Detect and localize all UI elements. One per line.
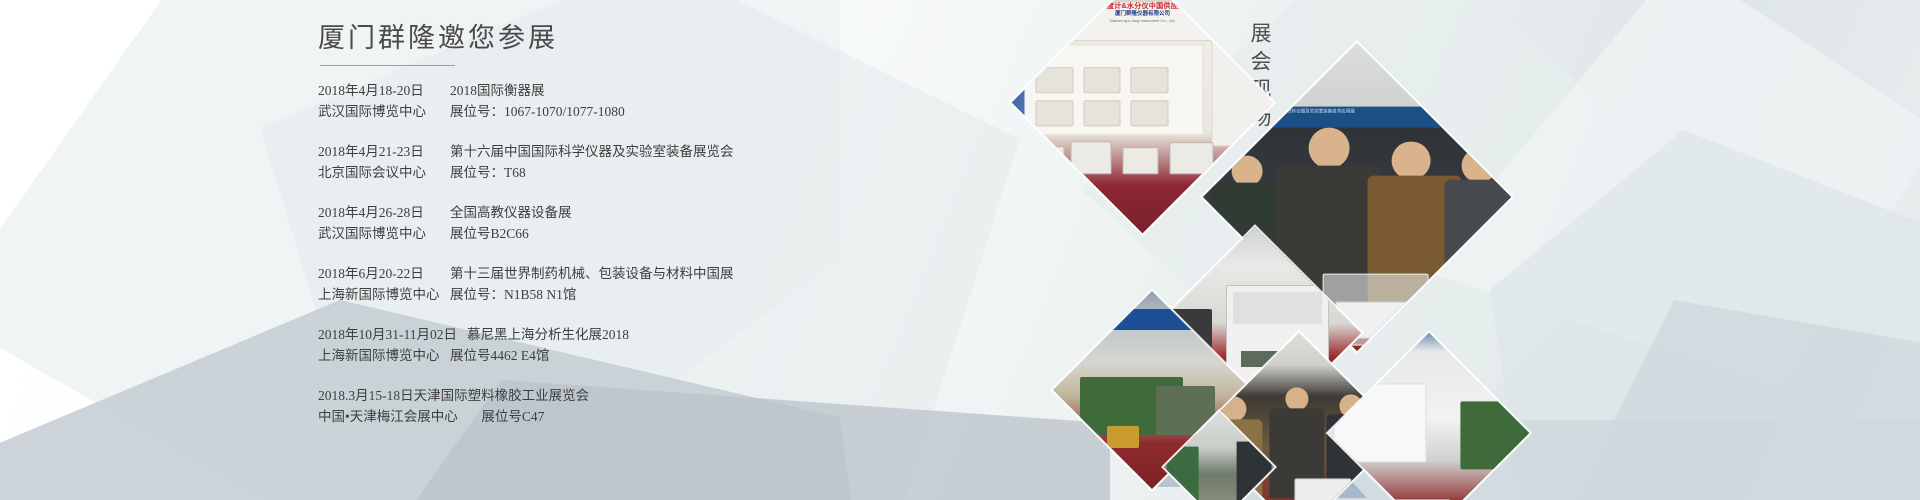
exhibition-banner: 厦门群隆邀您参展 2018年4月18-20日 2018国际衡器展 武汉国际博览中… [0,0,1920,500]
booth-banner-line3: Xiamen qun long Instrument Co., Ltd. [1012,17,1272,22]
booth-banner: 密度计&水分仪中国供应商 厦门群隆仪器有限公司 Xiamen qun long … [1012,0,1272,40]
entry-booth: 展位号：T68 [440,162,526,183]
entry-name: 第十三届世界制药机械、包装设备与材料中国展 [440,263,734,284]
entry-name: 全国高教仪器设备展 [440,202,572,223]
schedule-entry: 2018年4月21-23日 第十六届中国国际科学仪器及实验室装备展览会 北京国际… [318,141,938,183]
entry-venue: 上海新国际博览中心 [318,284,440,305]
entry-venue-line: 上海新国际博览中心 展位号：N1B58 N1馆 [318,284,938,305]
entry-title-line: 2018年4月18-20日 2018国际衡器展 [318,80,938,101]
background-polygon-h [1560,300,1920,500]
machine-part [1107,426,1138,448]
instrument [1169,142,1214,174]
booth-banner-line1: 密度计&水分仪中国供应商 [1012,1,1272,10]
entry-venue-line: 中国•天津梅江会展中心 展位号C47 [318,406,938,427]
entry-venue: 武汉国际博览中心 [318,223,440,244]
schedule-entry: 2018年4月18-20日 2018国际衡器展 武汉国际博览中心 展位号：106… [318,80,938,122]
instrument [1028,145,1064,173]
schedule-entry: 2018年6月20-22日 第十三届世界制药机械、包装设备与材料中国展 上海新国… [318,263,938,305]
entry-booth: 展位号4462 E4馆 [440,345,549,366]
entry-venue-line: 上海新国际博览中心 展位号4462 E4馆 [318,345,938,366]
neighbour-booth [1012,79,1024,168]
booth-logo: SmartT [1338,356,1359,364]
title-underline [320,65,455,66]
entry-venue: 北京国际会议中心 [318,162,440,183]
product-thumb [1036,67,1074,93]
analyser-lid [1233,292,1322,325]
booth-side-rack [1212,37,1274,146]
entry-title-line: 2018年4月21-23日 第十六届中国国际科学仪器及实验室装备展览会 [318,141,938,162]
instrument [1294,478,1351,500]
entry-name: 慕尼黑上海分析生化展2018 [457,324,629,345]
page-title: 厦门群隆邀您参展 [318,22,938,56]
entry-booth: 展位号：1067-1070/1077-1080 [440,101,625,122]
entry-date: 2018年6月20-22日 [318,263,440,284]
product-thumb [1083,67,1121,93]
entry-date: 2018年4月18-20日 [318,80,440,101]
entry-booth: 展位号：N1B58 N1馆 [440,284,576,305]
entry-title-line: 2018年6月20-22日 第十三届世界制药机械、包装设备与材料中国展 [318,263,938,284]
exhibition-schedule: 厦门群隆邀您参展 2018年4月18-20日 2018国际衡器展 武汉国际博览中… [318,22,938,446]
instrument [1071,140,1111,173]
entry-venue: 武汉国际博览中心 [318,101,440,122]
entry-venue: 中国•天津梅江会展中心 [318,406,468,427]
schedule-entry: 2018年10月31-11月02日 慕尼黑上海分析生化展2018 上海新国际博览… [318,324,938,366]
visitor-head [1231,155,1262,186]
schedule-entry: 2018年4月26-28日 全国高教仪器设备展 武汉国际博览中心 展位号B2C6… [318,202,938,244]
booth-banner-line2: 厦门群隆仪器有限公司 [1012,10,1272,17]
entry-booth: 展位号B2C66 [440,223,529,244]
entry-date: 2018年10月31-11月02日 [318,324,457,345]
entry-name: 第十六届中国国际科学仪器及实验室装备展览会 [440,141,734,162]
product-thumb [1131,100,1169,126]
photo-right-booth-content: SmartT [1329,333,1530,500]
entry-date: 2018年4月26-28日 [318,202,440,223]
visitor-head [1462,148,1497,183]
visitor-head [1392,141,1430,179]
product-thumb [1131,67,1169,93]
entry-venue-line: 武汉国际博览中心 展位号B2C66 [318,223,938,244]
machine-unit [1461,401,1529,469]
photo-right-booth: SmartT [1329,333,1530,500]
entry-title-line: 2018年10月31-11月02日 慕尼黑上海分析生化展2018 [318,324,938,345]
entry-name: 2018国际衡器展 [440,80,545,101]
product-thumb [1036,100,1074,126]
visitor-body [1444,180,1511,313]
entry-title-line: 2018年4月26-28日 全国高教仪器设备展 [318,202,938,223]
schedule-entry: 2018.3月15-18日天津国际塑料橡胶工业展览会 中国•天津梅江会展中心 展… [318,385,938,427]
visitor-head [1285,388,1308,411]
entry-title-line: 2018.3月15-18日天津国际塑料橡胶工业展览会 [318,385,938,406]
entry-date: 2018.3月15-18日天津国际塑料橡胶工业展览会 [318,385,938,406]
instrument [1122,147,1158,174]
product-thumb [1083,100,1121,126]
background-polygon-g [1490,130,1920,500]
entry-date: 2018年4月21-23日 [318,141,440,162]
photo-collage: 密度计&水分仪中国供应商 厦门群隆仪器有限公司 Xiamen qun long … [1020,0,1480,500]
visitor-head [1308,127,1350,169]
entry-booth: 展位号C47 [471,409,544,424]
entry-venue: 上海新国际博览中心 [318,345,440,366]
entry-venue-line: 武汉国际博览中心 展位号：1067-1070/1077-1080 [318,101,938,122]
booth-display-table [1024,138,1237,174]
entry-venue-line: 北京国际会议中心 展位号：T68 [318,162,938,183]
